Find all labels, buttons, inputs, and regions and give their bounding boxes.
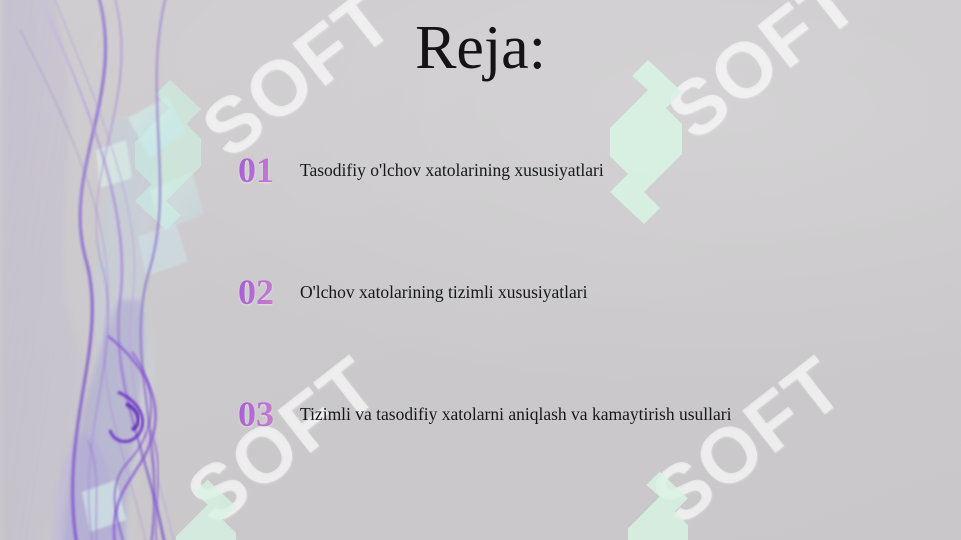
slide-title: Reja: [0,16,961,81]
agenda-item: 03 Tizimli va tasodifiy xatolarni aniqla… [238,396,731,432]
agenda-item-label: O'lchov xatolarining tizimli xususiyatla… [300,281,587,304]
agenda-item: 02 O'lchov xatolarining tizimli xususiya… [238,274,587,310]
agenda-item-number: 02 [238,274,300,310]
agenda-item-number: 01 [238,152,300,188]
agenda-item-number: 03 [238,396,300,432]
agenda-item: 01 Tasodifiy o'lchov xatolarining xususi… [238,152,604,188]
presentation-slide: SOFT SOFT SOFT SOFT [0,0,961,540]
agenda-item-label: Tizimli va tasodifiy xatolarni aniqlash … [300,403,731,426]
agenda-item-label: Tasodifiy o'lchov xatolarining xususiyat… [300,159,604,182]
slide-content: Reja: 01 Tasodifiy o'lchov xatolarining … [0,0,961,540]
